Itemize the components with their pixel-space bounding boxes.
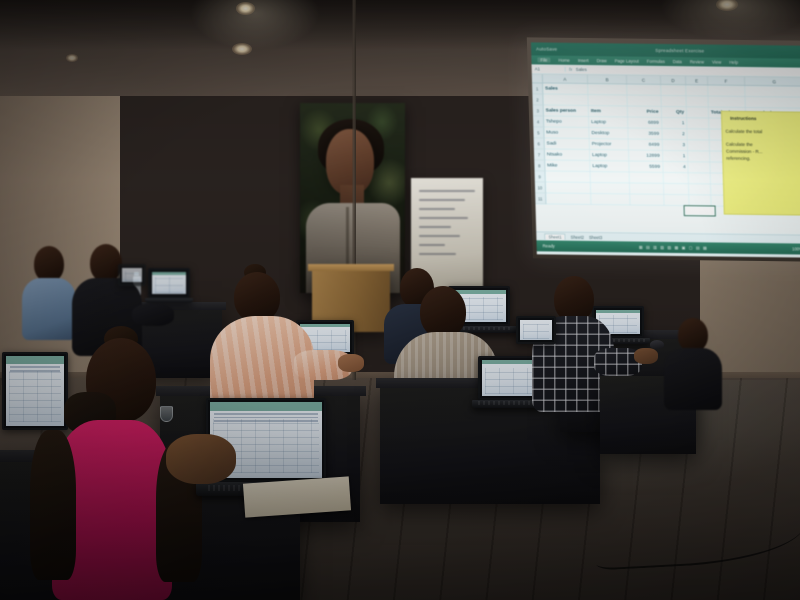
ribbon-tab-help[interactable]: Help — [729, 60, 738, 65]
status-mode-label: Ready — [543, 243, 555, 248]
hand — [338, 354, 364, 372]
ribbon-tab-home[interactable]: Home — [558, 58, 570, 63]
laptop-lid — [148, 268, 190, 298]
laptop-screen[interactable] — [152, 272, 186, 294]
cell-e9[interactable] — [689, 173, 711, 184]
sheet-tab-sheet1[interactable]: Sheet1 — [544, 233, 565, 239]
column-header-d[interactable]: D — [661, 76, 687, 84]
column-header-b[interactable]: B — [588, 75, 628, 83]
header-blank[interactable] — [687, 107, 709, 118]
status-zoom-label[interactable]: 100% — [792, 246, 800, 251]
cell-g1[interactable] — [745, 86, 800, 98]
ribbon-tab-view[interactable]: View — [712, 60, 721, 65]
cell-blank[interactable] — [688, 129, 710, 140]
cell-qty[interactable]: 2 — [662, 129, 688, 140]
cell-item[interactable]: Projector — [590, 139, 630, 150]
projector-screen: AutoSave Spreadsheet Exercise File Home … — [531, 42, 800, 257]
cell-d2[interactable] — [661, 96, 687, 107]
laptop-app-header — [452, 290, 506, 294]
row-header[interactable]: 3 — [533, 105, 544, 116]
ribbon-tab-file[interactable]: File — [537, 57, 550, 62]
column-header-c[interactable]: C — [627, 76, 661, 84]
status-view-icons[interactable]: ▦ ▤ ▥ ▧ ▨ ▩ ▣ ▢ ▤ ▦ — [639, 245, 708, 251]
cell-qty[interactable]: 3 — [662, 140, 688, 151]
laptop-screen[interactable] — [122, 268, 142, 282]
cell-sales-person[interactable]: Tshepo — [544, 116, 589, 128]
downlight-icon-1 — [236, 2, 255, 15]
laptop-app-header — [152, 272, 186, 275]
column-header-e[interactable]: E — [686, 76, 708, 84]
cell-e2[interactable] — [687, 96, 709, 107]
select-all-corner[interactable] — [532, 74, 543, 82]
name-box[interactable]: A1 — [532, 66, 566, 71]
worksheet-grid[interactable]: 1 Sales 2 — [532, 83, 800, 234]
torso — [664, 348, 722, 410]
column-header-f[interactable]: F — [708, 77, 746, 85]
drinking-glass — [160, 406, 173, 422]
header-qty[interactable]: Qty — [661, 107, 687, 118]
row-header[interactable]: 5 — [533, 127, 544, 138]
row-header[interactable]: 4 — [533, 116, 544, 127]
cell-e10[interactable] — [689, 184, 711, 195]
laptop-app-header — [300, 324, 350, 327]
cell-blank[interactable] — [688, 151, 710, 162]
excel-document-title: Spreadsheet Exercise — [655, 48, 704, 54]
cell-item[interactable]: Laptop — [590, 161, 630, 172]
cell-b1[interactable] — [588, 84, 628, 95]
cell-e1[interactable] — [686, 85, 708, 96]
laptop-app-header — [210, 402, 322, 411]
cell-a11[interactable] — [546, 193, 591, 205]
downlight-icon-2 — [232, 43, 252, 55]
row-header[interactable]: 9 — [535, 171, 546, 182]
cell-price[interactable]: 5599 — [630, 161, 664, 172]
laptop-app-header — [6, 356, 64, 364]
excel-quick-access-label: AutoSave — [536, 46, 557, 51]
cell-price[interactable]: 6899 — [628, 118, 662, 129]
sheet-tab-sheet2[interactable]: Sheet2 — [571, 234, 584, 239]
cell-g2[interactable] — [746, 97, 800, 109]
head — [234, 272, 280, 322]
cell-blank[interactable] — [689, 162, 711, 173]
cell-price[interactable]: 12899 — [629, 151, 663, 162]
cell-sales-person[interactable]: Ntsako — [545, 149, 590, 161]
cell-item[interactable]: Laptop — [589, 117, 629, 128]
downlight-icon-4 — [66, 54, 78, 62]
row-header[interactable]: 1 — [532, 83, 543, 94]
row-header[interactable]: 6 — [534, 138, 545, 149]
laptop-lid — [516, 316, 556, 344]
laptop-lid — [2, 352, 68, 430]
head — [678, 318, 708, 352]
cell-b2[interactable] — [588, 95, 628, 106]
cell-f2[interactable] — [708, 97, 746, 108]
row-header[interactable]: 10 — [535, 182, 546, 193]
cell-a2[interactable] — [543, 94, 588, 106]
laptop-screen[interactable] — [520, 320, 552, 340]
cell-qty[interactable]: 4 — [663, 162, 689, 173]
instructions-note[interactable]: Instructions Calculate the total Calcula… — [721, 111, 800, 216]
excel-application: AutoSave Spreadsheet Exercise File Home … — [531, 42, 800, 257]
cell-c11[interactable] — [630, 194, 664, 205]
classroom-scene: AutoSave Spreadsheet Exercise File Home … — [0, 0, 800, 600]
laptop-app-header — [596, 310, 640, 313]
column-header-a[interactable]: A — [543, 74, 588, 83]
laptop-lid — [118, 264, 146, 286]
cell-b10[interactable] — [591, 183, 631, 194]
cell-c10[interactable] — [630, 183, 664, 194]
hand — [634, 348, 658, 364]
selected-cell[interactable] — [684, 205, 716, 216]
cell-blank[interactable] — [687, 118, 709, 129]
ribbon-tab-insert[interactable]: Insert — [578, 58, 589, 63]
laptop-spreadsheet-grid — [155, 277, 183, 293]
cell-price[interactable]: 8499 — [629, 140, 663, 151]
fx-icon[interactable]: fx — [566, 67, 576, 72]
sheet-tab-sheet3[interactable]: Sheet3 — [589, 234, 602, 239]
cell-a10[interactable] — [546, 182, 591, 194]
cell-qty[interactable]: 1 — [663, 151, 689, 162]
cell-c2[interactable] — [628, 96, 662, 107]
cell-b11[interactable] — [591, 194, 631, 205]
arm — [132, 304, 174, 326]
laptop-screen[interactable] — [6, 356, 64, 426]
ribbon-tab-draw[interactable]: Draw — [597, 58, 607, 63]
excel-status-bar: Ready ▦ ▤ ▥ ▧ ▨ ▩ ▣ ▢ ▤ ▦ 100% — [536, 240, 800, 254]
flipchart-notes — [419, 190, 475, 262]
laptop-spreadsheet-grid — [523, 324, 549, 338]
ribbon-tab-data[interactable]: Data — [673, 59, 682, 64]
cell-b9[interactable] — [591, 172, 631, 183]
cell-price[interactable]: 3599 — [629, 129, 663, 140]
instructions-line-1: Calculate the total — [725, 128, 800, 136]
cell-d9[interactable] — [663, 173, 689, 184]
torso — [22, 278, 76, 340]
cell-f1[interactable] — [708, 86, 746, 97]
cell-a1-sales-title[interactable]: Sales — [543, 83, 588, 95]
arm — [30, 430, 76, 580]
header-item[interactable]: Item — [589, 106, 629, 117]
cell-item[interactable]: Laptop — [590, 150, 630, 161]
laptop-spreadsheet-grid — [125, 271, 139, 281]
ribbon-tab-formulas[interactable]: Formulas — [647, 59, 665, 64]
ribbon-tab-page-layout[interactable]: Page Layout — [615, 58, 639, 63]
column-header-g[interactable]: G — [745, 77, 800, 86]
row-header[interactable]: 8 — [534, 160, 545, 171]
cell-item[interactable]: Desktop — [589, 128, 629, 139]
row-header[interactable]: 11 — [535, 193, 546, 204]
laptop-spreadsheet-grid — [485, 368, 537, 394]
hand — [166, 434, 236, 484]
ribbon-tab-review[interactable]: Review — [690, 59, 704, 64]
formula-bar-value[interactable]: Sales — [576, 67, 587, 72]
cell-c1[interactable] — [627, 85, 661, 96]
cell-sales-person[interactable]: Mike — [545, 160, 590, 172]
laptop-base — [145, 298, 193, 303]
header-sales-person[interactable]: Sales person — [544, 105, 589, 117]
header-price[interactable]: Price — [628, 107, 662, 118]
laptop-spreadsheet-grid — [9, 371, 61, 421]
cell-qty[interactable]: 1 — [662, 118, 688, 129]
instructions-title: Instructions — [725, 115, 800, 123]
cell-c9[interactable] — [630, 172, 664, 183]
instructions-line-4: referencing. — [726, 155, 800, 163]
cell-blank[interactable] — [688, 140, 710, 151]
cell-sales-person[interactable]: Muso — [544, 127, 589, 139]
cell-d1[interactable] — [661, 85, 687, 96]
cell-d10[interactable] — [664, 184, 690, 195]
head — [34, 246, 64, 282]
head — [420, 286, 466, 338]
podium-top — [308, 264, 394, 271]
cell-sales-person[interactable]: Sadi — [544, 138, 589, 150]
row-header[interactable]: 2 — [532, 94, 543, 105]
cell-a9[interactable] — [545, 171, 590, 183]
row-header[interactable]: 7 — [534, 149, 545, 160]
